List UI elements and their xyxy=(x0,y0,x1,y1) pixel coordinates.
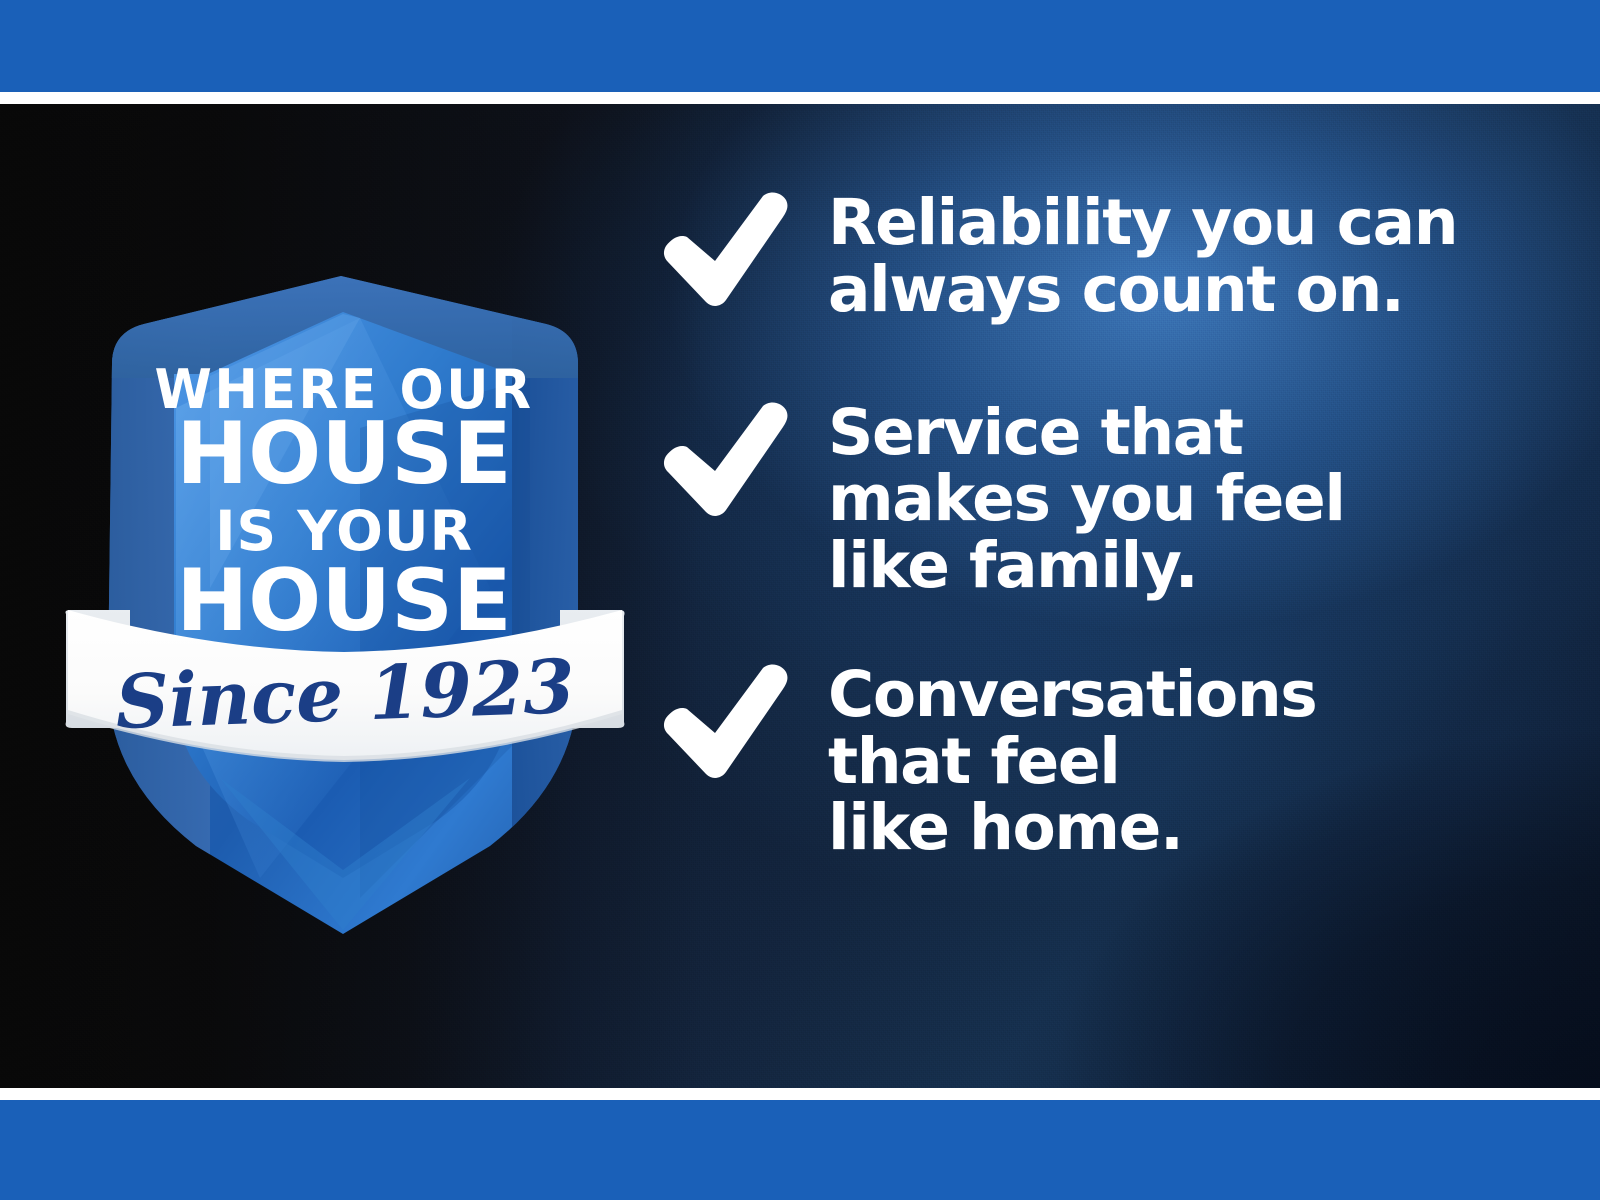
list-item-text: Reliability you can always count on. xyxy=(828,190,1540,324)
poster-canvas: WHERE OUR HOUSE IS YOUR HOUSE Since 1923 xyxy=(0,0,1600,1200)
checkmark-icon xyxy=(660,662,792,780)
bottom-white-divider xyxy=(0,1088,1600,1100)
list-item: Conversations that feel like home. xyxy=(660,662,1540,862)
list-item: Reliability you can always count on. xyxy=(660,190,1540,324)
checkmark-icon xyxy=(660,400,792,518)
checkmark-icon xyxy=(660,190,792,308)
list-item: Service that makes you feel like family. xyxy=(660,400,1540,600)
list-item-text: Conversations that feel like home. xyxy=(828,662,1540,862)
top-white-divider xyxy=(0,92,1600,104)
banner-script-text: Since 1923 xyxy=(114,644,576,746)
shield-emblem: WHERE OUR HOUSE IS YOUR HOUSE Since 1923 xyxy=(60,258,630,948)
tagline-line-2: HOUSE xyxy=(176,404,512,504)
bottom-brand-bar xyxy=(0,1100,1600,1200)
benefits-list: Reliability you can always count on. Ser… xyxy=(660,190,1540,862)
list-item-text: Service that makes you feel like family. xyxy=(828,400,1540,600)
tagline-line-4: HOUSE xyxy=(176,551,512,651)
top-brand-bar xyxy=(0,0,1600,92)
